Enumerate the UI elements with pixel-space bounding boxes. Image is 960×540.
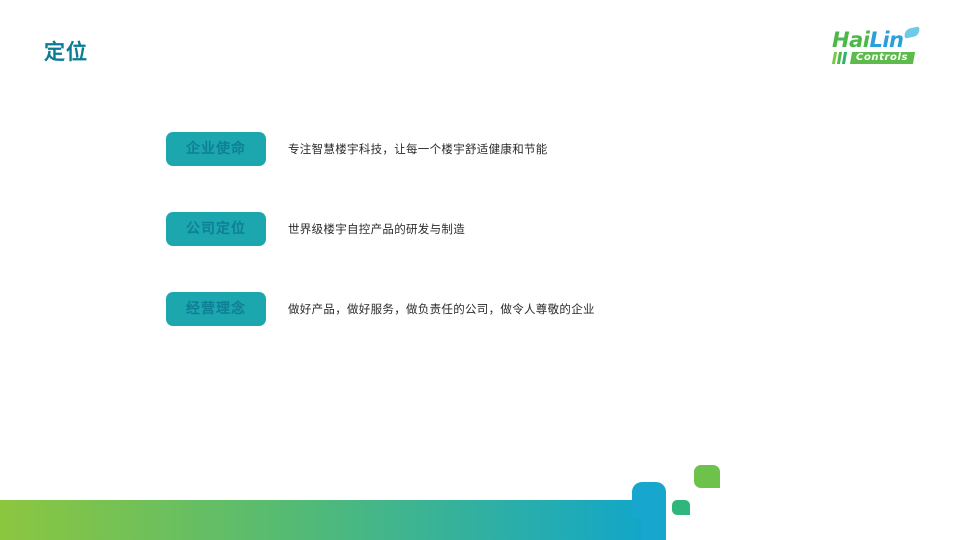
green-leaf-small-icon <box>672 500 690 515</box>
content-row: 经营理念 做好产品，做好服务，做负责任的公司，做令人尊敬的企业 <box>166 289 866 329</box>
badge-mission[interactable]: 企业使命 <box>166 132 266 166</box>
row-description: 世界级楼宇自控产品的研发与制造 <box>288 221 465 237</box>
badge-label: 经营理念 <box>186 302 246 316</box>
blue-step-shape <box>632 482 666 518</box>
logo-wordmark: HaiLin <box>832 29 903 51</box>
gradient-bar <box>0 500 641 540</box>
badge-philosophy[interactable]: 经营理念 <box>166 292 266 326</box>
page-title: 定位 <box>44 42 88 63</box>
green-leaf-large-icon <box>694 465 720 488</box>
badge-positioning[interactable]: 公司定位 <box>166 212 266 246</box>
badge-label: 企业使命 <box>186 142 246 156</box>
hailin-controls-logo: HaiLin Controls <box>832 29 932 69</box>
content-row: 企业使命 专注智慧楼宇科技，让每一个楼宇舒适健康和节能 <box>166 129 866 169</box>
footer-decoration <box>0 430 960 540</box>
row-description: 专注智慧楼宇科技，让每一个楼宇舒适健康和节能 <box>288 141 548 157</box>
logo-text-hai: Hai <box>832 28 869 52</box>
logo-text-lin: Lin <box>869 28 903 52</box>
leaf-icon <box>903 26 921 38</box>
content-row: 公司定位 世界级楼宇自控产品的研发与制造 <box>166 209 866 249</box>
badge-label: 公司定位 <box>186 222 246 236</box>
content-rows: 企业使命 专注智慧楼宇科技，让每一个楼宇舒适健康和节能 公司定位 世界级楼宇自控… <box>166 129 866 369</box>
logo-bars-icon <box>833 52 846 64</box>
slide-canvas: 定位 HaiLin Controls 企业使命 专注智慧楼宇科技，让每一个楼宇舒… <box>0 0 960 540</box>
logo-tagline-text: Controls <box>856 52 908 64</box>
logo-tagline-banner: Controls <box>850 52 915 64</box>
row-description: 做好产品，做好服务，做负责任的公司，做令人尊敬的企业 <box>288 301 595 317</box>
